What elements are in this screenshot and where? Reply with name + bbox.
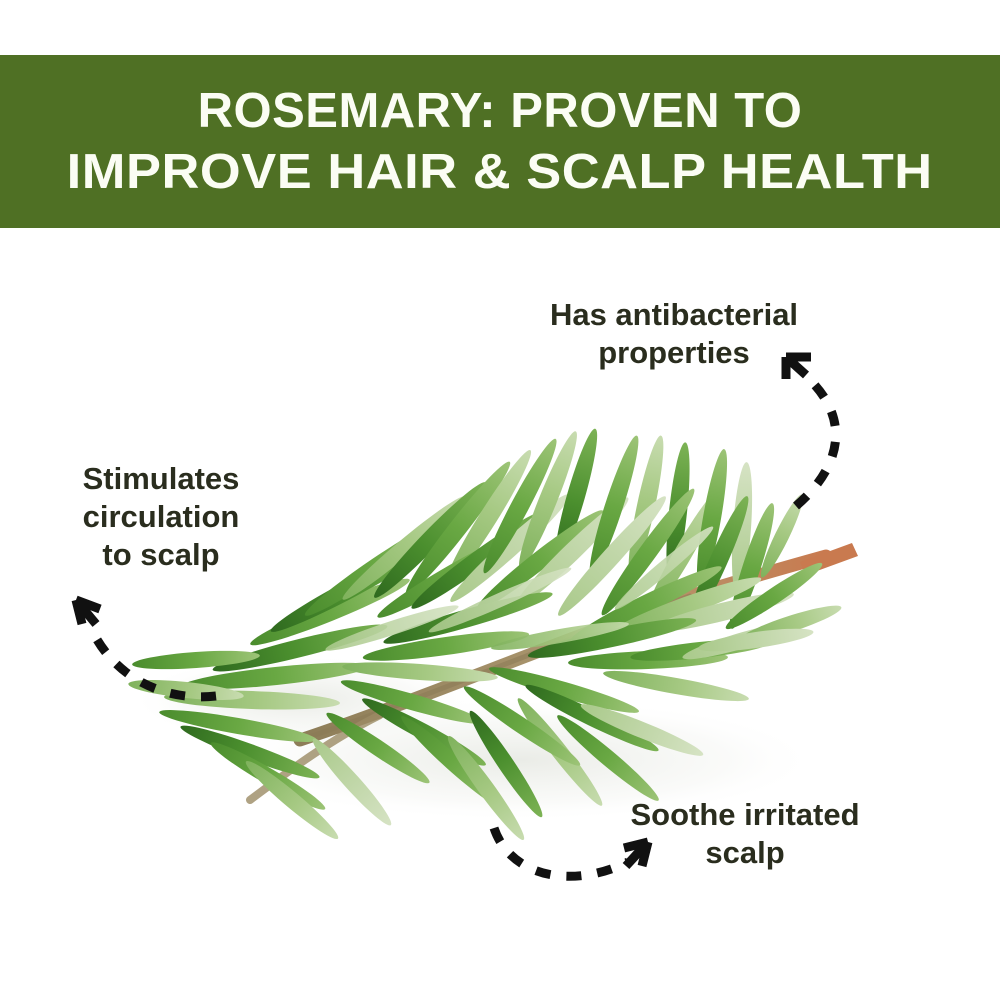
header-title-line-1: ROSEMARY: PROVEN TO bbox=[198, 87, 803, 136]
annotation-antibacterial-line-2: properties bbox=[498, 334, 850, 372]
annotation-label-antibacterial: Has antibacterial properties bbox=[498, 296, 850, 372]
annotation-label-soothe: Soothe irritated scalp bbox=[595, 796, 895, 872]
annotation-stimulates-line-3: to scalp bbox=[45, 536, 277, 574]
annotation-soothe-line-1: Soothe irritated bbox=[595, 796, 895, 834]
infographic-page: ROSEMARY: PROVEN TO IMPROVE HAIR & SCALP… bbox=[0, 0, 1000, 1000]
annotation-antibacterial-line-1: Has antibacterial bbox=[498, 296, 850, 334]
header-title-line-2: IMPROVE HAIR & SCALP HEALTH bbox=[67, 148, 933, 197]
annotation-label-stimulates: Stimulates circulation to scalp bbox=[45, 460, 277, 573]
annotation-soothe-line-2: scalp bbox=[595, 834, 895, 872]
annotation-stimulates-line-1: Stimulates bbox=[45, 460, 277, 498]
header-banner: ROSEMARY: PROVEN TO IMPROVE HAIR & SCALP… bbox=[0, 55, 1000, 228]
annotation-stimulates-line-2: circulation bbox=[45, 498, 277, 536]
